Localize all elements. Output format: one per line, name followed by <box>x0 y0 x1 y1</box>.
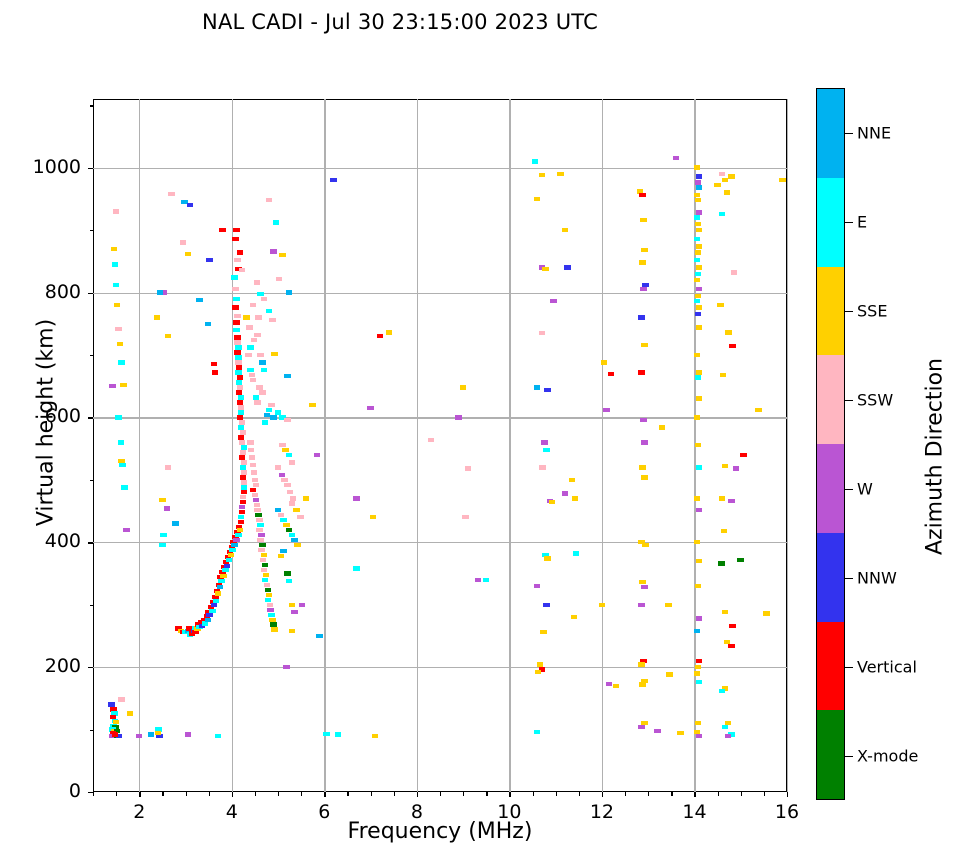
echo-point <box>641 440 647 444</box>
echo-point <box>534 197 540 201</box>
echo-point <box>241 480 247 484</box>
echo-point <box>222 568 228 572</box>
echo-point <box>252 478 258 482</box>
echo-point <box>114 303 120 307</box>
echo-point <box>239 505 245 509</box>
echo-point <box>281 478 287 482</box>
echo-point <box>254 333 260 337</box>
echo-point <box>266 309 272 313</box>
colorbar-label-e: E <box>857 212 867 231</box>
echo-point <box>279 473 285 477</box>
x-tick <box>509 792 510 797</box>
echo-point <box>639 465 645 469</box>
echo-point <box>695 250 701 254</box>
echo-point <box>241 445 247 449</box>
colorbar-title: Azimuth Direction <box>923 317 948 597</box>
colorbar-tick <box>845 756 853 757</box>
echo-point <box>256 528 262 532</box>
echo-point <box>241 490 247 494</box>
echo-point <box>115 327 121 331</box>
echo-point <box>290 496 296 500</box>
echo-point <box>696 265 702 269</box>
echo-point <box>370 515 376 519</box>
echo-point <box>269 318 275 322</box>
colorbar-segment-x-mode <box>817 710 844 799</box>
echo-point <box>229 548 235 552</box>
echo-point <box>127 711 133 715</box>
echo-point <box>695 222 701 226</box>
echo-point <box>460 385 466 389</box>
x-tick <box>278 792 279 796</box>
x-tick <box>232 792 233 797</box>
echo-point <box>233 228 239 232</box>
echo-point <box>695 312 701 316</box>
x-tick <box>579 792 580 796</box>
echo-point <box>728 499 734 503</box>
echo-point <box>234 335 240 339</box>
echo-point <box>286 528 292 532</box>
echo-point <box>696 244 702 248</box>
echo-point <box>206 258 212 262</box>
echo-point <box>335 732 341 736</box>
echo-point <box>118 440 124 444</box>
echo-point <box>639 260 645 264</box>
echo-point <box>160 533 166 537</box>
echo-point <box>557 172 563 176</box>
echo-point <box>239 440 245 444</box>
echo-point <box>694 415 700 419</box>
echo-point <box>192 630 198 634</box>
echo-point <box>729 624 735 628</box>
echo-point <box>237 250 243 254</box>
x-tick <box>301 792 302 796</box>
echo-point <box>639 580 645 584</box>
x-tick <box>556 792 557 796</box>
echo-point <box>283 523 289 527</box>
echo-point <box>268 403 274 407</box>
echo-point <box>483 578 489 582</box>
echo-point <box>562 491 568 495</box>
echo-point <box>165 334 171 338</box>
echo-point <box>284 418 290 422</box>
echo-point <box>314 453 320 457</box>
echo-point <box>253 395 259 399</box>
echo-point <box>641 475 647 479</box>
echo-point <box>237 528 243 532</box>
echo-point <box>289 603 295 607</box>
echo-point <box>694 671 700 675</box>
echo-point <box>238 405 244 409</box>
echo-point <box>233 328 239 332</box>
y-tick <box>90 105 94 106</box>
echo-point <box>185 732 191 736</box>
echo-point <box>241 470 247 474</box>
echo-point <box>543 603 549 607</box>
echo-point <box>695 584 701 588</box>
echo-point <box>231 275 237 279</box>
echo-point <box>550 299 556 303</box>
echo-point <box>270 622 276 626</box>
echo-point <box>239 455 245 459</box>
x-tick <box>324 792 325 797</box>
echo-point <box>722 464 728 468</box>
echo-point <box>731 270 737 274</box>
echo-point <box>293 508 299 512</box>
echo-point <box>257 292 263 296</box>
echo-point <box>696 325 702 329</box>
echo-point <box>164 506 170 510</box>
echo-point <box>455 415 461 419</box>
echo-point <box>535 670 541 674</box>
echo-point <box>269 618 275 622</box>
colorbar-segment-w <box>817 444 844 533</box>
echo-point <box>539 465 545 469</box>
echo-point <box>694 299 700 303</box>
echo-point <box>696 396 702 400</box>
echo-point <box>185 252 191 256</box>
echo-point <box>271 627 277 631</box>
echo-point <box>235 360 241 364</box>
echo-point <box>260 558 266 562</box>
echo-point <box>601 360 607 364</box>
echo-point <box>695 375 701 379</box>
x-tick <box>718 792 719 796</box>
echo-point <box>642 543 648 547</box>
x-tick <box>648 792 649 796</box>
echo-point <box>255 315 261 319</box>
echo-point <box>294 543 300 547</box>
echo-point <box>271 352 277 356</box>
echo-point <box>196 298 202 302</box>
echo-point <box>544 556 550 560</box>
echo-point <box>291 610 297 614</box>
echo-point <box>286 579 292 583</box>
echo-point <box>599 603 605 607</box>
x-tick <box>486 792 487 796</box>
echo-point <box>695 198 701 202</box>
echo-point <box>234 350 240 354</box>
echo-point <box>641 343 647 347</box>
echo-point <box>209 609 215 613</box>
echo-point <box>259 360 265 364</box>
echo-point <box>148 732 154 736</box>
echo-point <box>252 493 258 497</box>
echo-point <box>187 203 193 207</box>
echo-point <box>613 684 619 688</box>
echo-point <box>534 385 540 389</box>
echo-point <box>428 438 434 442</box>
echo-point <box>719 172 725 176</box>
echo-point <box>251 470 257 474</box>
echo-point <box>289 533 295 537</box>
echo-point <box>641 248 647 252</box>
echo-point <box>267 603 273 607</box>
x-tick <box>417 792 418 797</box>
echo-point <box>275 465 281 469</box>
echo-point <box>280 518 286 522</box>
echo-point <box>112 262 118 266</box>
echo-point <box>263 573 269 577</box>
ionogram-plot <box>93 99 787 792</box>
echo-point <box>640 418 646 422</box>
x-tick <box>440 792 441 796</box>
echo-point <box>719 689 725 693</box>
echo-point <box>372 734 378 738</box>
echo-point <box>237 385 243 389</box>
echo-point <box>694 278 700 282</box>
echo-point <box>250 488 256 492</box>
colorbar-tick <box>845 222 853 223</box>
echo-point <box>121 485 127 489</box>
echo-point <box>212 370 218 374</box>
y-tick <box>90 730 94 731</box>
x-tick <box>93 792 94 796</box>
echo-point <box>696 659 702 663</box>
echo-point <box>275 508 281 512</box>
echo-point <box>235 533 241 537</box>
x-tick <box>139 792 140 797</box>
echo-point <box>779 178 785 182</box>
echo-point <box>202 621 208 625</box>
echo-point <box>224 564 230 568</box>
echo-point <box>287 490 293 494</box>
page-title: NAL CADI - Jul 30 23:15:00 2023 UTC <box>0 10 800 34</box>
echo-point <box>465 466 471 470</box>
echo-point <box>722 178 728 182</box>
echo-point <box>534 730 540 734</box>
echo-point <box>695 443 701 447</box>
echo-point <box>238 435 244 439</box>
echo-point <box>694 237 700 241</box>
echo-point <box>238 395 244 399</box>
echo-point <box>665 603 671 607</box>
echo-point <box>694 540 700 544</box>
echo-point <box>120 383 126 387</box>
echo-point <box>640 218 646 222</box>
echo-point <box>475 578 481 582</box>
echo-point <box>168 192 174 196</box>
y-tick <box>88 542 93 543</box>
echo-point <box>677 731 683 735</box>
echo-point <box>638 370 644 374</box>
echo-point <box>696 734 702 738</box>
echo-point <box>257 353 263 357</box>
echo-point <box>278 554 284 558</box>
y-tick <box>88 792 93 793</box>
echo-point <box>666 672 672 676</box>
echo-point <box>303 496 309 500</box>
colorbar-segment-vertical <box>817 622 844 711</box>
echo-point <box>232 287 238 291</box>
echo-point <box>234 314 240 318</box>
echo-point <box>725 734 731 738</box>
echo-point <box>316 634 322 638</box>
echo-point <box>232 305 238 309</box>
echo-point <box>259 390 265 394</box>
echo-point <box>249 455 255 459</box>
echo-point <box>239 268 245 272</box>
echo-point <box>113 209 119 213</box>
echo-point <box>696 616 702 620</box>
echo-point <box>136 734 142 738</box>
echo-point <box>541 440 547 444</box>
echo-point <box>323 732 329 736</box>
echo-point <box>240 495 246 499</box>
echo-point <box>205 322 211 326</box>
echo-point <box>215 591 221 595</box>
echo-point <box>549 500 555 504</box>
echo-point <box>673 156 679 160</box>
colorbar-label-nne: NNE <box>857 123 891 142</box>
echo-point <box>219 228 225 232</box>
echo-point <box>239 510 245 514</box>
echo-point <box>234 340 240 344</box>
echo-point <box>694 215 700 219</box>
echo-point <box>606 682 612 686</box>
echo-point <box>562 228 568 232</box>
echo-point <box>264 583 270 587</box>
echo-point <box>539 173 545 177</box>
echo-point <box>569 478 575 482</box>
echo-point <box>245 353 251 357</box>
echo-point <box>241 460 247 464</box>
echo-point <box>261 368 267 372</box>
echo-point <box>115 415 121 419</box>
echo-point <box>695 665 701 669</box>
echo-point <box>172 521 178 525</box>
echo-point <box>236 380 242 384</box>
echo-point <box>240 475 246 479</box>
echo-point <box>729 344 735 348</box>
echo-point <box>232 237 238 241</box>
echo-point <box>299 603 305 607</box>
colorbar-label-ssw: SSW <box>857 390 893 409</box>
colorbar-label-vertical: Vertical <box>857 657 917 676</box>
x-tick <box>255 792 256 796</box>
y-tick <box>90 230 94 231</box>
echo-point <box>763 611 769 615</box>
echo-point <box>284 374 290 378</box>
echo-point <box>542 267 548 271</box>
echo-point <box>694 353 700 357</box>
echo-point <box>256 518 262 522</box>
echo-point <box>537 662 543 666</box>
echo-point <box>639 682 645 686</box>
echo-point <box>572 496 578 500</box>
echo-point <box>262 578 268 582</box>
echo-point <box>253 498 259 502</box>
y-tick-label: 0 <box>1 780 81 802</box>
echo-point <box>571 615 577 619</box>
echo-point <box>238 515 244 519</box>
echo-point <box>694 496 700 500</box>
echo-point <box>268 613 274 617</box>
echo-point <box>266 593 272 597</box>
echo-point <box>257 523 263 527</box>
echo-point <box>235 370 241 374</box>
echo-point <box>695 294 701 298</box>
echo-point <box>638 603 644 607</box>
echo-point <box>353 496 359 500</box>
echo-point <box>235 355 241 359</box>
echo-point <box>544 388 550 392</box>
echo-point <box>262 563 268 567</box>
x-tick <box>116 792 117 796</box>
echo-point <box>728 174 734 178</box>
colorbar <box>816 88 845 800</box>
echo-point <box>109 384 115 388</box>
echo-point <box>608 372 614 376</box>
scatter-points-layer <box>93 99 787 792</box>
echo-point <box>238 425 244 429</box>
echo-point <box>696 174 702 178</box>
echo-point <box>286 453 292 457</box>
echo-point <box>220 574 226 578</box>
echo-point <box>696 465 702 469</box>
echo-point <box>641 585 647 589</box>
echo-point <box>262 420 268 424</box>
echo-point <box>250 463 256 467</box>
echo-point <box>755 408 761 412</box>
echo-point <box>573 551 579 555</box>
echo-point <box>254 400 260 404</box>
echo-point <box>654 729 660 733</box>
echo-point <box>261 568 267 572</box>
echo-point <box>639 193 645 197</box>
colorbar-label-nnw: NNW <box>857 568 897 587</box>
echo-point <box>259 543 265 547</box>
y-tick-label: 200 <box>1 655 81 677</box>
echo-point <box>278 513 284 517</box>
echo-point <box>118 697 124 701</box>
echo-point <box>240 450 246 454</box>
echo-point <box>640 287 646 291</box>
y-axis-title: Virtual height (km) <box>34 293 59 553</box>
echo-point <box>564 265 570 269</box>
y-tick <box>90 355 94 356</box>
echo-point <box>289 629 295 633</box>
echo-point <box>237 375 243 379</box>
echo-point <box>247 345 253 349</box>
echo-point <box>255 513 261 517</box>
colorbar-tick <box>845 133 853 134</box>
x-tick <box>371 792 372 796</box>
echo-point <box>250 303 256 307</box>
echo-point <box>236 365 242 369</box>
echo-point <box>722 725 728 729</box>
echo-point <box>733 466 739 470</box>
echo-point <box>119 463 125 467</box>
colorbar-segment-e <box>817 178 844 267</box>
echo-point <box>721 529 727 533</box>
x-tick <box>694 792 695 797</box>
echo-point <box>720 373 726 377</box>
echo-point <box>696 305 702 309</box>
echo-point <box>240 465 246 469</box>
echo-point <box>180 240 186 244</box>
echo-point <box>205 618 211 622</box>
echo-point <box>638 725 644 729</box>
colorbar-segment-nne <box>817 89 844 178</box>
echo-point <box>543 448 549 452</box>
colorbar-segment-sse <box>817 267 844 356</box>
echo-point <box>728 644 734 648</box>
x-tick <box>186 792 187 796</box>
echo-point <box>367 406 373 410</box>
echo-point <box>297 515 303 519</box>
echo-point <box>694 165 700 169</box>
echo-point <box>256 385 262 389</box>
